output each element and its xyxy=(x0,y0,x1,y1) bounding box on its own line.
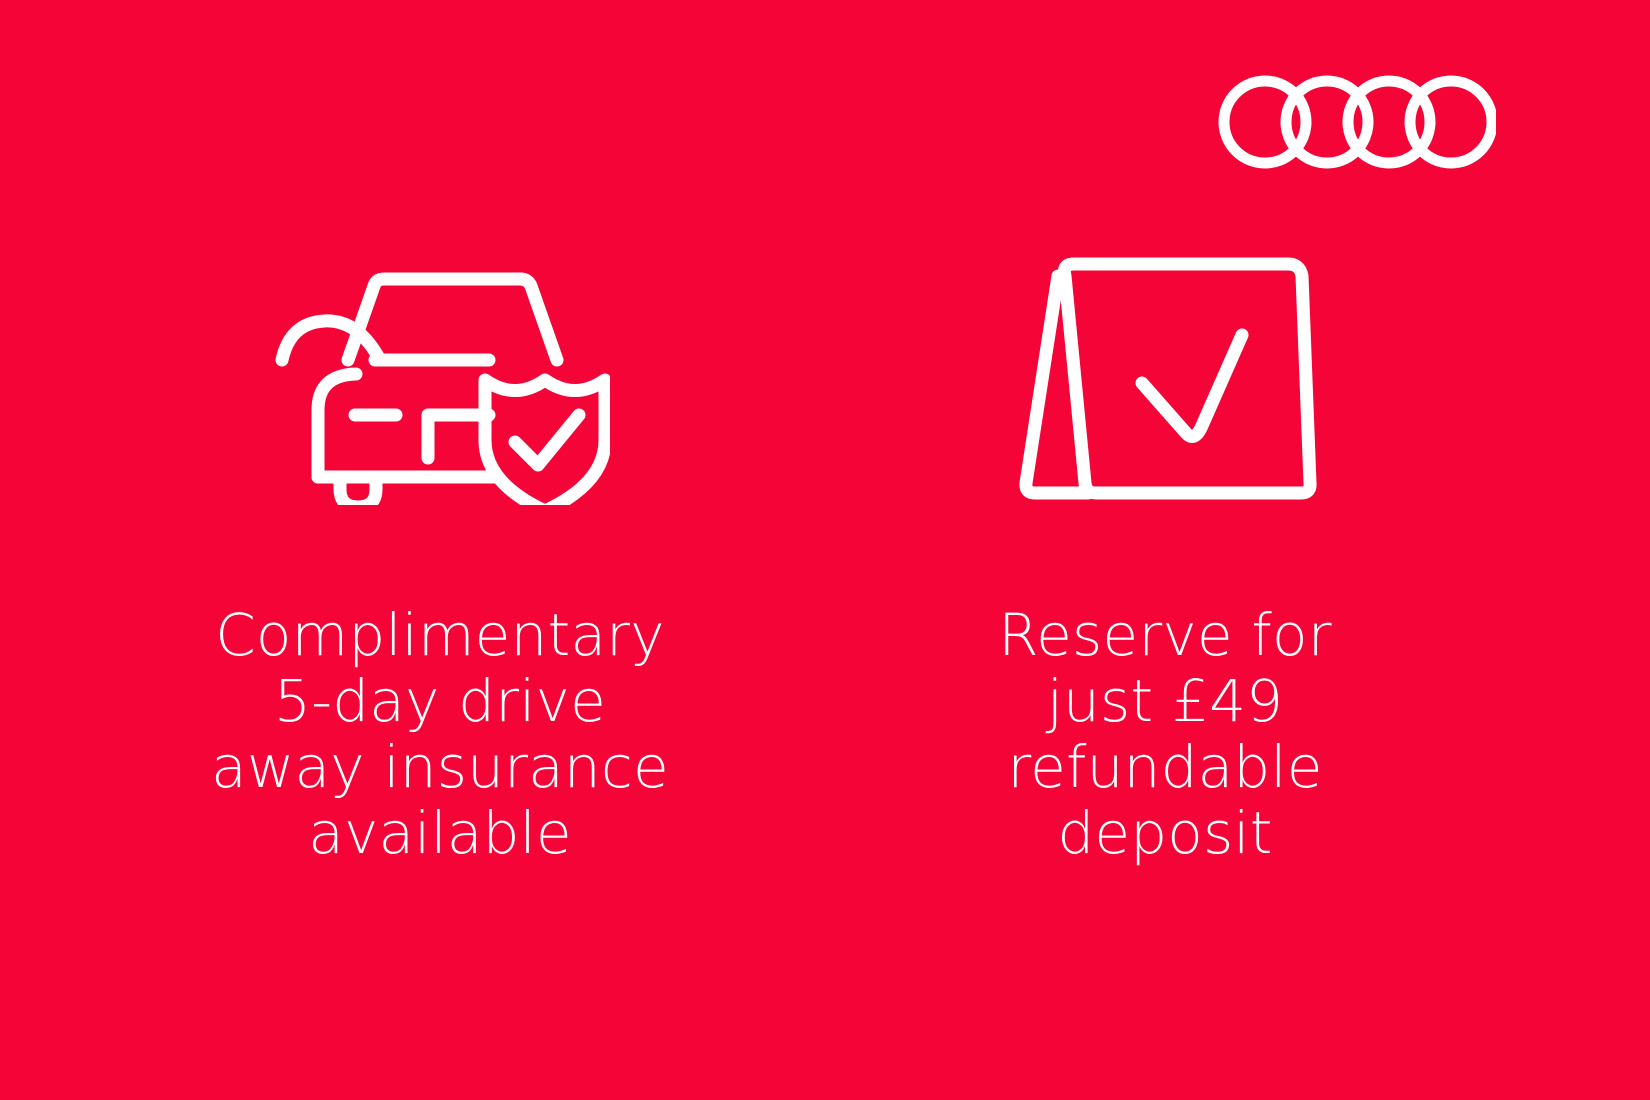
car-with-shield-icon xyxy=(270,255,610,505)
car-with-shield-icon-wrap xyxy=(270,250,610,510)
promo-panel: Complimentary 5-day drive away insurance… xyxy=(0,0,1650,1100)
feature-deposit: Reserve for just £49 refundable deposit xyxy=(855,250,1475,866)
feature-insurance: Complimentary 5-day drive away insurance… xyxy=(130,250,750,866)
feature-insurance-caption: Complimentary 5-day drive away insurance… xyxy=(140,602,740,866)
audi-rings-logo xyxy=(1218,68,1496,176)
tent-card-check-icon xyxy=(1010,255,1320,505)
audi-rings-icon xyxy=(1218,68,1496,176)
tent-card-check-icon-wrap xyxy=(1010,250,1320,510)
feature-deposit-caption: Reserve for just £49 refundable deposit xyxy=(930,602,1400,866)
